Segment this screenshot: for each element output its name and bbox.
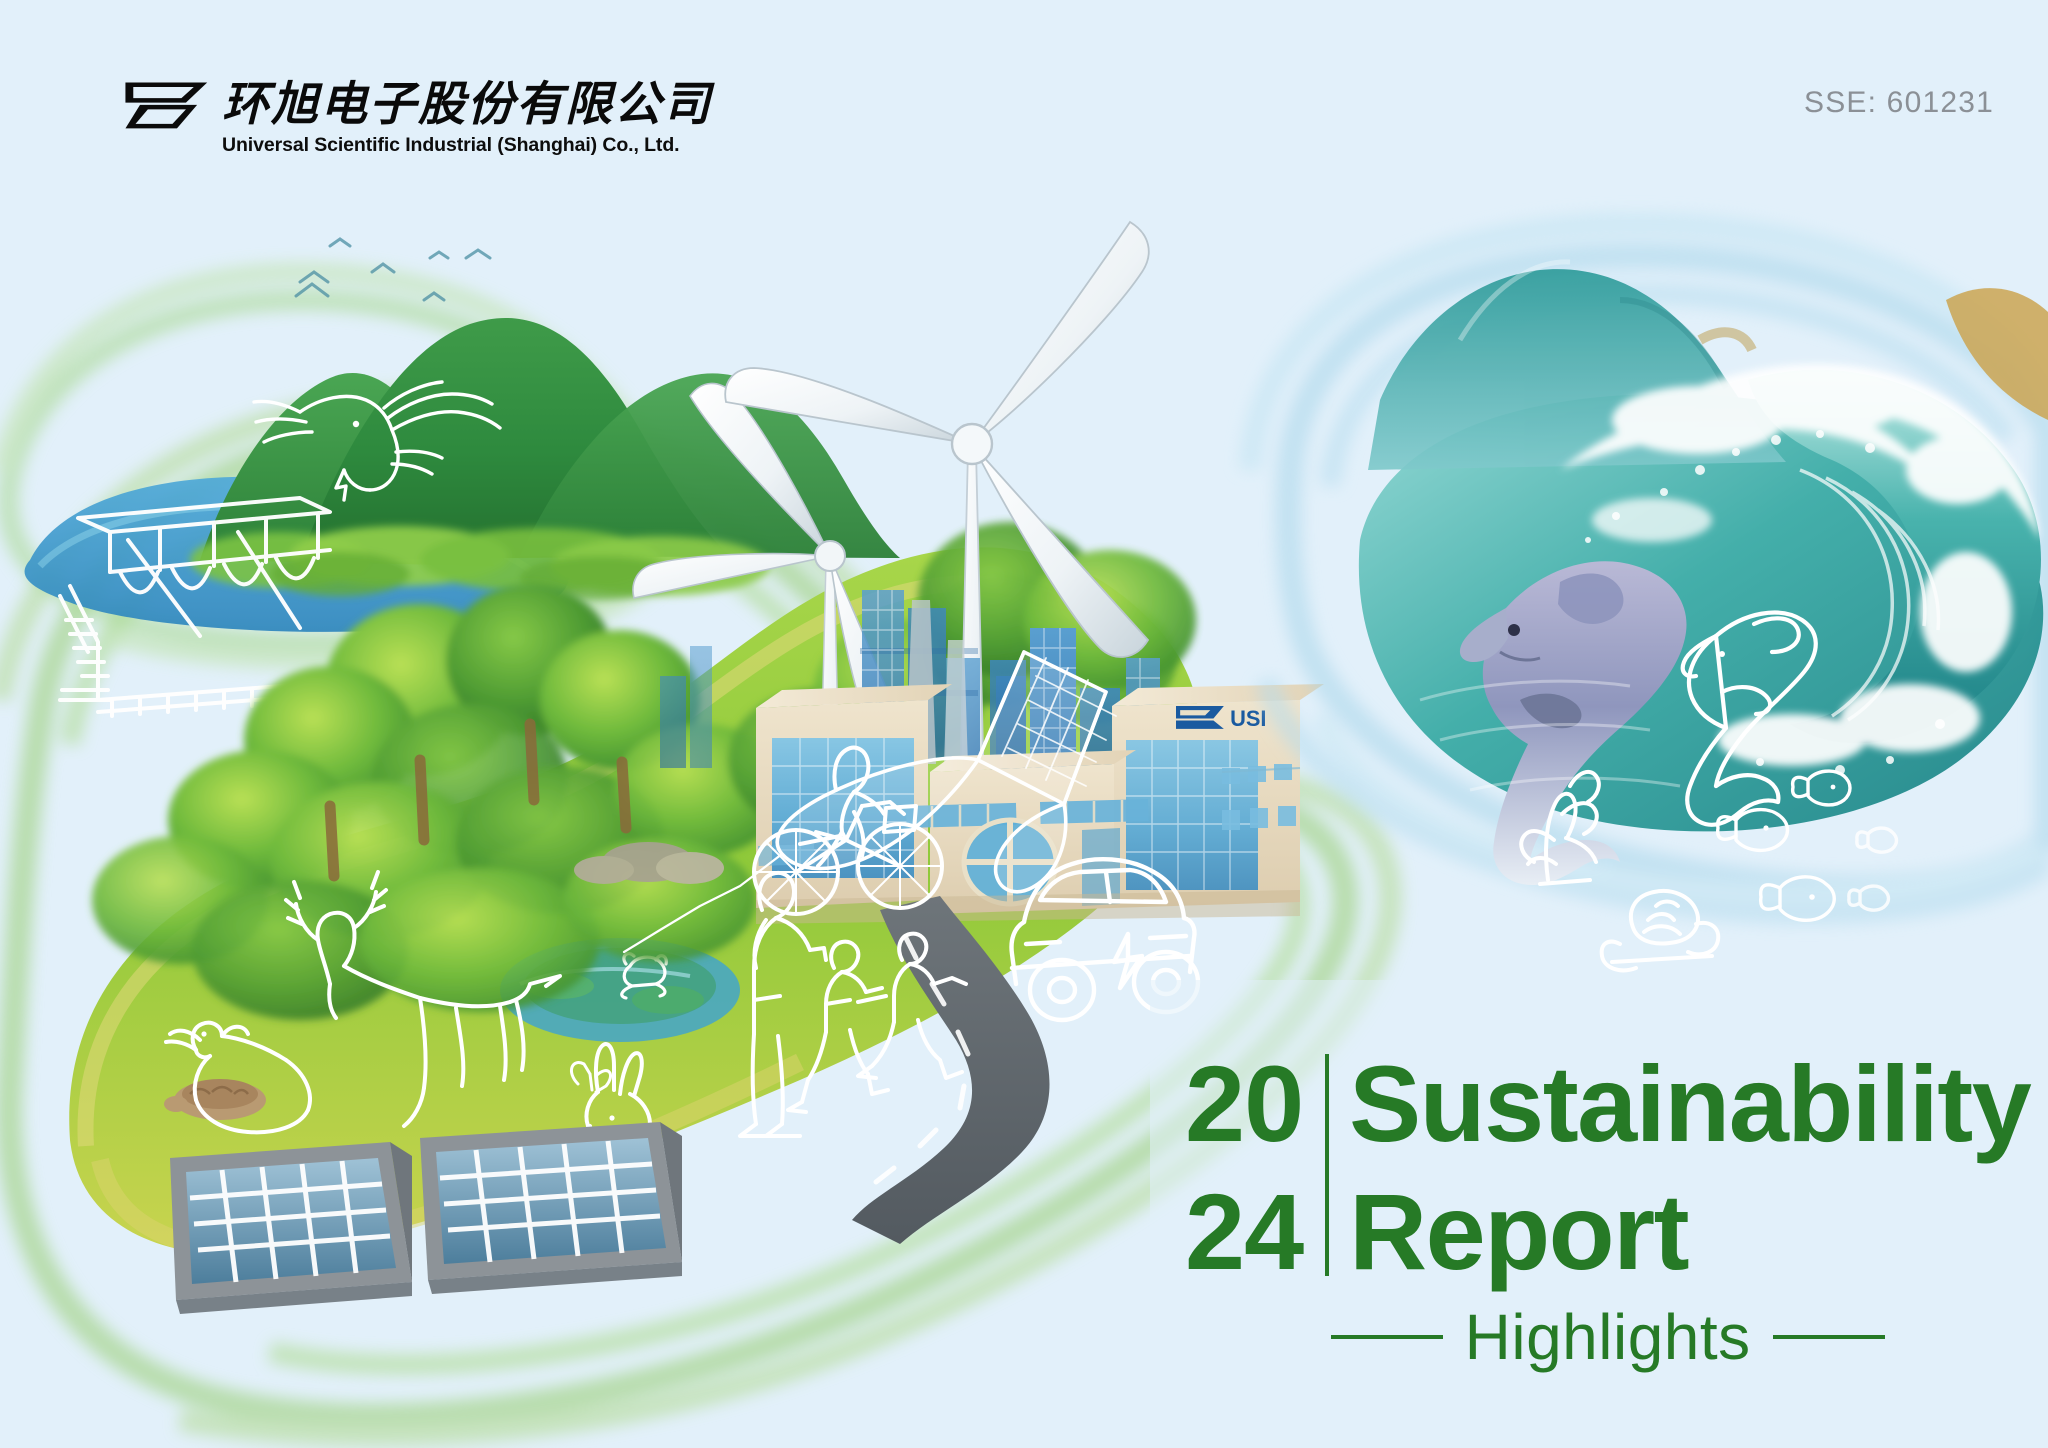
- report-cover: USI: [0, 0, 2048, 1448]
- title-divider: [1325, 1054, 1329, 1276]
- company-name-en: Universal Scientific Industrial (Shangha…: [222, 133, 712, 157]
- usi-logo-mark: [122, 78, 214, 134]
- subtitle-label: Highlights: [1465, 1302, 1751, 1372]
- title-line-2: Report: [1349, 1168, 2030, 1296]
- solar-panel-right: [420, 1122, 682, 1294]
- stock-listing: SSE: 601231: [1804, 86, 1994, 120]
- cover-title: 20 24 Sustainability Report Highlights: [1185, 1040, 2030, 1372]
- subtitle-rule-left: [1331, 1335, 1443, 1339]
- title-line-1: Sustainability: [1349, 1040, 2030, 1168]
- subtitle-rule-right: [1773, 1335, 1885, 1339]
- subtitle-row: Highlights: [1185, 1302, 2030, 1372]
- year-block: 20 24: [1185, 1040, 1303, 1296]
- year-bottom: 24: [1185, 1168, 1303, 1296]
- page-header: 环旭电子股份有限公司 Universal Scientific Industri…: [0, 0, 2048, 200]
- year-top: 20: [1185, 1040, 1303, 1168]
- solar-panel-left: [170, 1142, 412, 1314]
- usi-logo: 环旭电子股份有限公司 Universal Scientific Industri…: [122, 78, 712, 157]
- svg-text:USI: USI: [1230, 706, 1266, 731]
- company-name-cn: 环旭电子股份有限公司: [222, 80, 712, 130]
